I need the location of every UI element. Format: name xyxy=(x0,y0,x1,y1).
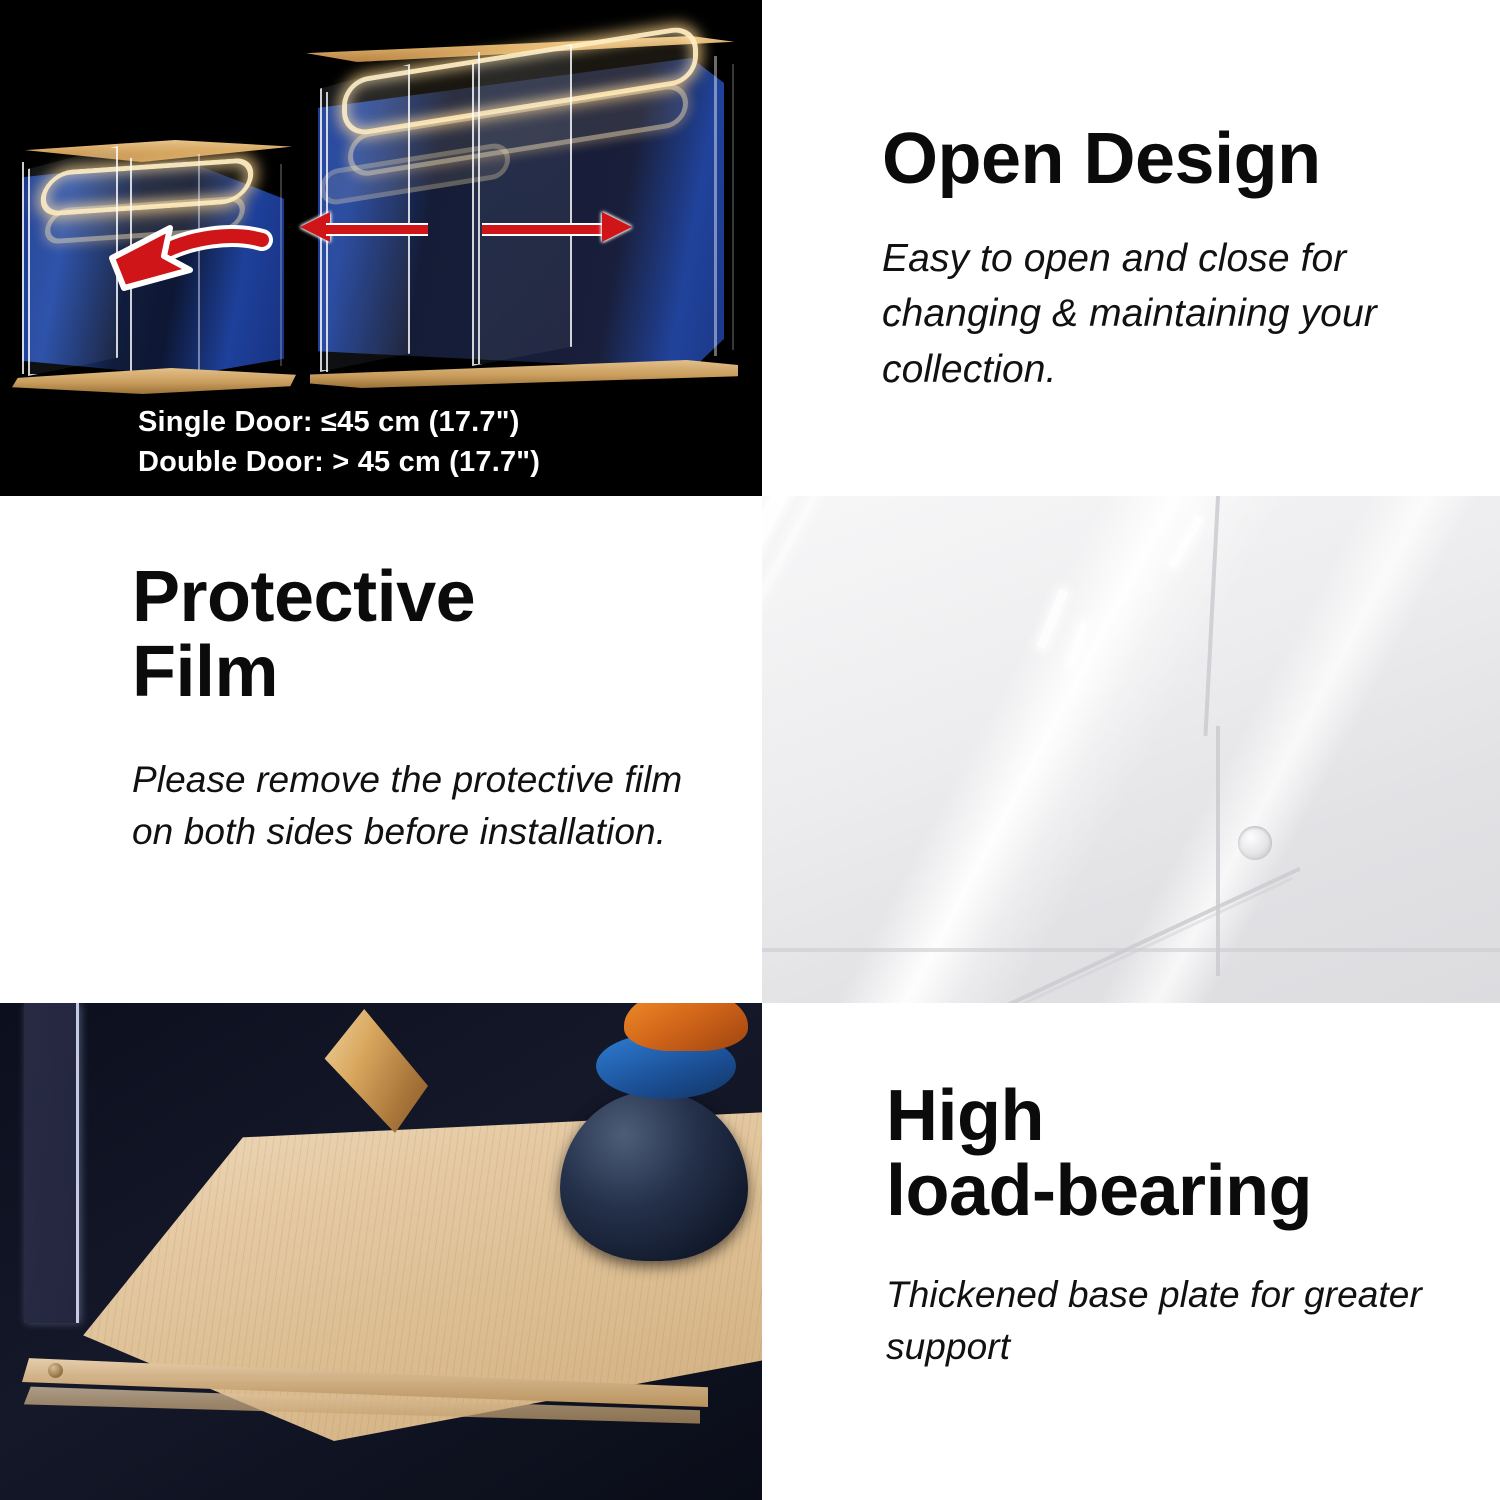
wooden-base-plate-photo xyxy=(0,1003,762,1500)
case-rear-right-edge xyxy=(280,164,282,366)
double-door-display-case xyxy=(296,30,748,398)
door-slide-left-arrow-icon xyxy=(300,218,428,236)
door-slide-right-arrow-icon xyxy=(482,218,632,236)
case-rear-right-edge xyxy=(732,64,734,350)
panel-mounting-hole xyxy=(1238,826,1272,860)
door-configuration-panel: Single Door: ≤45 cm (17.7") Double Door:… xyxy=(0,0,762,496)
case-front-right-edge xyxy=(714,56,717,356)
high-load-bearing-panel: High load-bearing Thickened base plate f… xyxy=(762,1003,1500,1500)
film-bottom-edge xyxy=(762,948,1500,952)
open-door-leaf-right xyxy=(472,44,572,366)
open-design-body: Easy to open and close for changing & ma… xyxy=(882,231,1442,397)
double-door-size-caption: Double Door: > 45 cm (17.7") xyxy=(138,446,540,479)
open-design-panel: Open Design Easy to open and close for c… xyxy=(762,0,1500,496)
protective-film-heading-line-2: Film xyxy=(132,635,692,710)
acrylic-side-panel xyxy=(24,1003,79,1323)
case-wood-base xyxy=(310,360,738,388)
base-plate-screw-hole xyxy=(48,1363,63,1378)
case-wood-top xyxy=(14,140,292,162)
case-wood-base xyxy=(12,368,296,394)
open-design-heading: Open Design xyxy=(882,122,1442,197)
case-front-left-edge xyxy=(22,162,24,374)
infographic-page: Single Door: ≤45 cm (17.7") Double Door:… xyxy=(0,0,1500,1500)
open-design-text-block: Open Design Easy to open and close for c… xyxy=(882,122,1442,397)
protective-film-body: Please remove the protective film on bot… xyxy=(132,754,692,859)
figure-orange-top xyxy=(624,1003,748,1051)
high-load-heading-line-2: load-bearing xyxy=(886,1154,1456,1229)
film-surface-sheen xyxy=(762,496,1500,1003)
high-load-text-block: High load-bearing Thickened base plate f… xyxy=(886,1079,1456,1374)
high-load-body: Thickened base plate for greater support xyxy=(886,1269,1456,1374)
protective-film-closeup-photo xyxy=(762,496,1500,1003)
single-door-display-case xyxy=(8,140,298,398)
high-load-heading-line-1: High xyxy=(886,1079,1456,1154)
film-right-vertical-crease-lower xyxy=(1216,726,1220,976)
protective-film-panel: Protective Film Please remove the protec… xyxy=(0,496,762,1003)
protective-film-heading-line-1: Protective xyxy=(132,560,692,635)
protective-film-text-block: Protective Film Please remove the protec… xyxy=(132,560,692,859)
curved-door-arrow-icon xyxy=(94,226,264,296)
single-door-size-caption: Single Door: ≤45 cm (17.7") xyxy=(138,406,520,439)
